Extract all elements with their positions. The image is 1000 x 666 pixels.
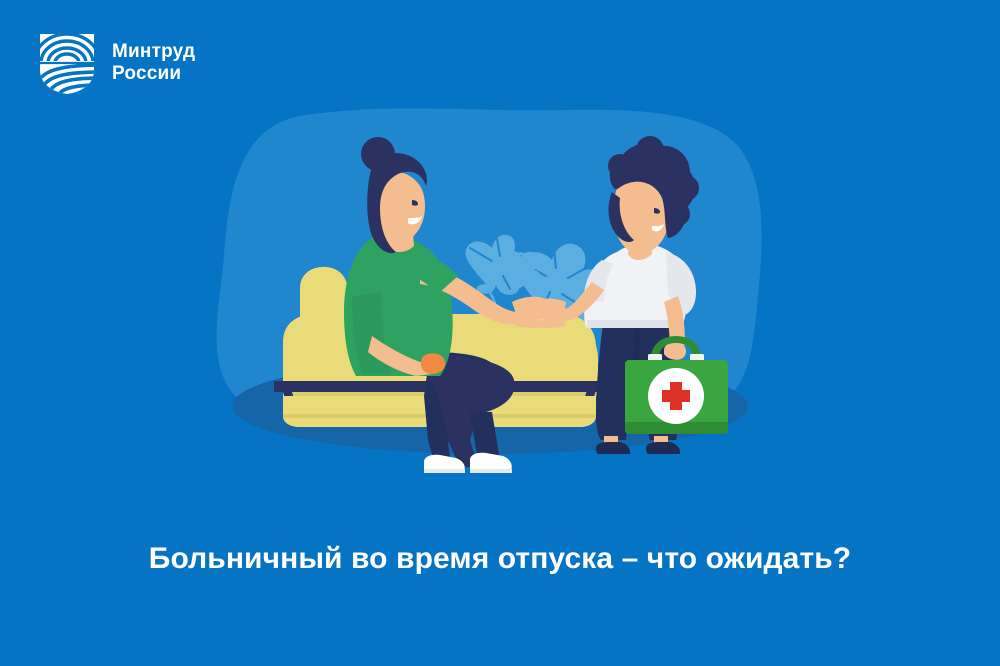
ministry-shield-field-sun-logo-icon bbox=[36, 30, 98, 96]
brand-name-line1: Минтруд bbox=[112, 41, 195, 63]
brand-name-line2: России bbox=[112, 63, 195, 85]
brand-lockup: Минтруд России bbox=[36, 30, 195, 96]
illustration-two-women-conversation bbox=[0, 96, 1000, 496]
orange-object bbox=[421, 353, 445, 374]
brand-name: Минтруд России bbox=[112, 41, 195, 86]
poster-canvas: Минтруд России bbox=[0, 0, 1000, 666]
poster-caption: Больничный во время отпуска – что ожидат… bbox=[0, 540, 1000, 578]
